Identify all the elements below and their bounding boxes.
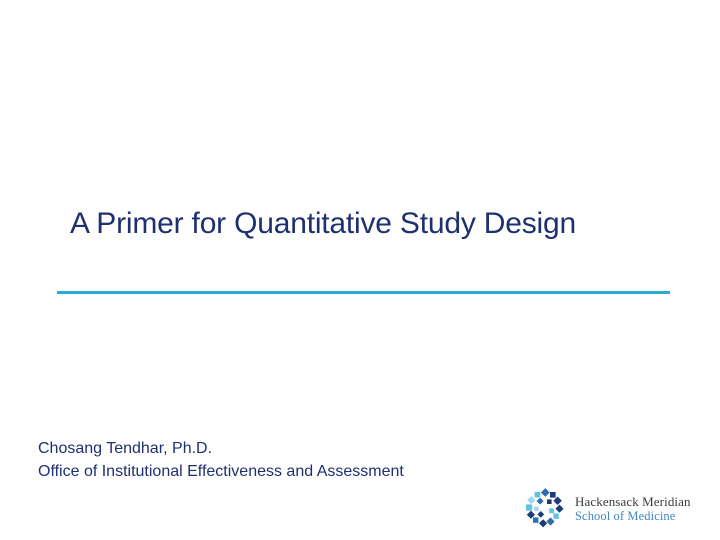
logo-wordmark: Hackensack Meridian School of Medicine [575,494,691,524]
presentation-slide: A Primer for Quantitative Study Design C… [0,0,720,540]
author-affiliation: Office of Institutional Effectiveness an… [38,460,404,483]
institution-logo: Hackensack Meridian School of Medicine [524,486,684,532]
author-block: Chosang Tendhar, Ph.D. Office of Institu… [38,437,404,483]
author-name: Chosang Tendhar, Ph.D. [38,437,404,460]
title-divider-rule [57,291,670,294]
logo-organization-name: Hackensack Meridian [575,494,691,509]
logo-division-name: School of Medicine [575,509,691,524]
slide-title: A Primer for Quantitative Study Design [70,206,670,242]
hackensack-meridian-dots-logo-icon [524,488,566,530]
